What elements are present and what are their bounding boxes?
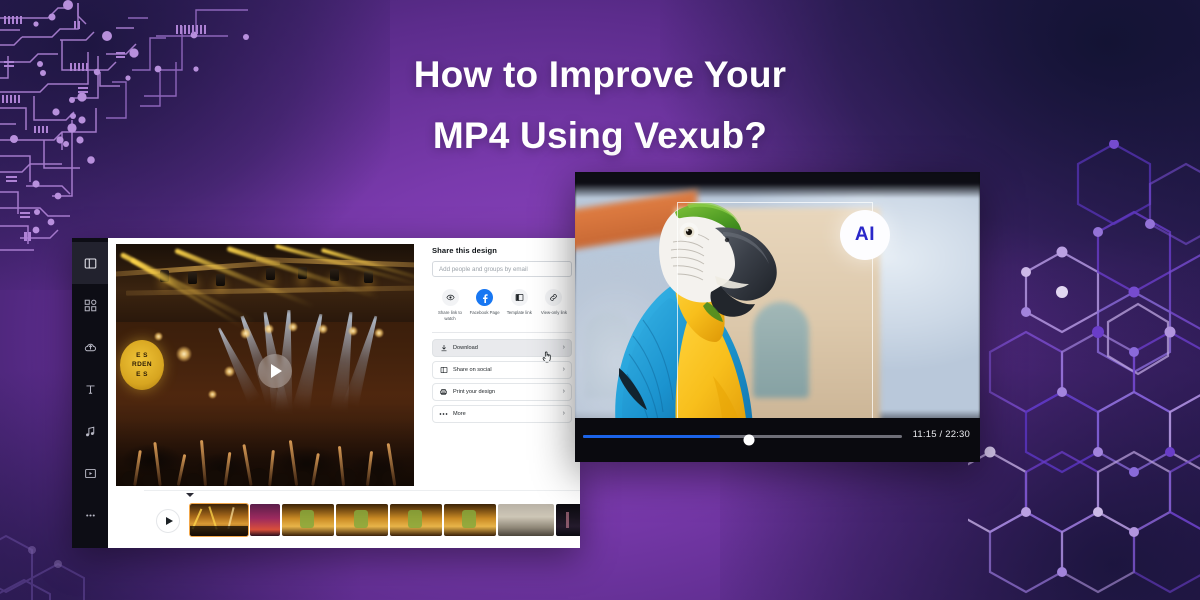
timeline-clip[interactable] [250, 504, 280, 536]
sidebar-item-uploads[interactable] [72, 326, 108, 368]
share-email-input[interactable]: Add people and groups by email [432, 261, 572, 277]
chevron-right-icon: › [563, 366, 565, 373]
video-preview[interactable]: E SRDENE S [116, 244, 414, 486]
editor-timeline [144, 490, 580, 548]
video-editor-window: E SRDENE S [72, 238, 580, 548]
menu-item-share-on-social[interactable]: Share on social › [432, 361, 572, 379]
video-progress-bar[interactable] [583, 435, 902, 438]
sidebar-item-videos[interactable] [72, 452, 108, 494]
printer-icon [439, 387, 448, 396]
quick-action-label: View-only link [541, 310, 567, 316]
chevron-right-icon: › [563, 410, 565, 417]
title-line-2: MP4 Using Vexub? [0, 117, 1200, 154]
share-panel-title: Share this design [432, 246, 572, 255]
video-progress-knob[interactable] [744, 435, 755, 446]
quick-action-label: Template link [507, 310, 532, 316]
sidebar-item-audio[interactable] [72, 410, 108, 452]
quick-action-facebook[interactable]: Facebook Page [468, 289, 502, 322]
timeline-clip[interactable] [498, 504, 554, 536]
share-quick-actions: Share link to watch Facebook Page [432, 289, 572, 322]
menu-item-more[interactable]: More › [432, 405, 572, 423]
link-icon [545, 289, 562, 306]
timeline-clip[interactable] [556, 504, 580, 536]
chevron-right-icon: › [563, 344, 565, 351]
timeline-clip-strip [190, 504, 580, 536]
timeline-clip[interactable] [336, 504, 388, 536]
video-timestamp: 11:15 / 22:30 [913, 429, 970, 440]
cloud-upload-icon [84, 341, 97, 354]
text-t-icon [84, 383, 97, 396]
quick-action-view-only-link[interactable]: View-only link [537, 289, 571, 322]
editor-sidebar [72, 238, 108, 548]
ellipsis-icon [439, 409, 448, 418]
menu-item-label: Print your design [453, 389, 495, 395]
menu-item-print-your-design[interactable]: Print your design › [432, 383, 572, 401]
timeline-clip[interactable] [190, 504, 248, 536]
stage-sign: E SRDENE S [120, 340, 164, 390]
share-menu: Download › Share on social › [432, 339, 572, 423]
menu-item-label: Share on social [453, 367, 492, 373]
playhead-caret-icon [186, 493, 194, 497]
sidebar-item-elements[interactable] [72, 284, 108, 326]
poster-canvas: How to Improve Your MP4 Using Vexub? [0, 0, 1200, 600]
layout-template-icon [84, 257, 97, 270]
editor-body: E SRDENE S [108, 238, 580, 548]
timeline-clip[interactable] [282, 504, 334, 536]
timeline-play-button[interactable] [156, 509, 180, 533]
quick-action-label: Share link to watch [433, 310, 467, 322]
social-share-icon [439, 365, 448, 374]
ellipsis-icon [84, 509, 97, 522]
play-overlay-button[interactable] [258, 354, 292, 388]
sidebar-item-text[interactable] [72, 368, 108, 410]
facebook-icon [476, 289, 493, 306]
page-title: How to Improve Your MP4 Using Vexub? [0, 56, 1200, 154]
quick-action-template-link[interactable]: Template link [502, 289, 536, 322]
concert-scene: E SRDENE S [116, 244, 414, 486]
video-player-controls: 11:15 / 22:30 [575, 418, 980, 462]
play-icon [271, 364, 282, 378]
crowd-silhouette [116, 394, 414, 486]
play-icon [166, 517, 173, 525]
ai-video-card: AFTER AI 11:15 / 22:30 [575, 172, 980, 462]
eye-icon [442, 289, 459, 306]
menu-item-label: More [453, 411, 466, 417]
quick-action-label: Facebook Page [470, 310, 500, 316]
video-play-box-icon [84, 467, 97, 480]
sidebar-item-more[interactable] [72, 494, 108, 536]
download-icon [439, 343, 448, 352]
chevron-right-icon: › [563, 388, 565, 395]
video-progress-fill [583, 435, 720, 438]
ai-badge: AI [840, 210, 890, 260]
title-line-1: How to Improve Your [0, 56, 1200, 93]
menu-item-download[interactable]: Download › [432, 339, 572, 357]
sidebar-item-design[interactable] [72, 242, 108, 284]
music-note-icon [84, 425, 97, 438]
share-email-placeholder: Add people and groups by email [439, 266, 528, 273]
menu-item-label: Download [453, 345, 478, 351]
panel-divider [432, 332, 572, 333]
timeline-clip[interactable] [390, 504, 442, 536]
timeline-clip[interactable] [444, 504, 496, 536]
grid-elements-icon [84, 299, 97, 312]
template-icon [511, 289, 528, 306]
quick-action-share-link[interactable]: Share link to watch [433, 289, 467, 322]
